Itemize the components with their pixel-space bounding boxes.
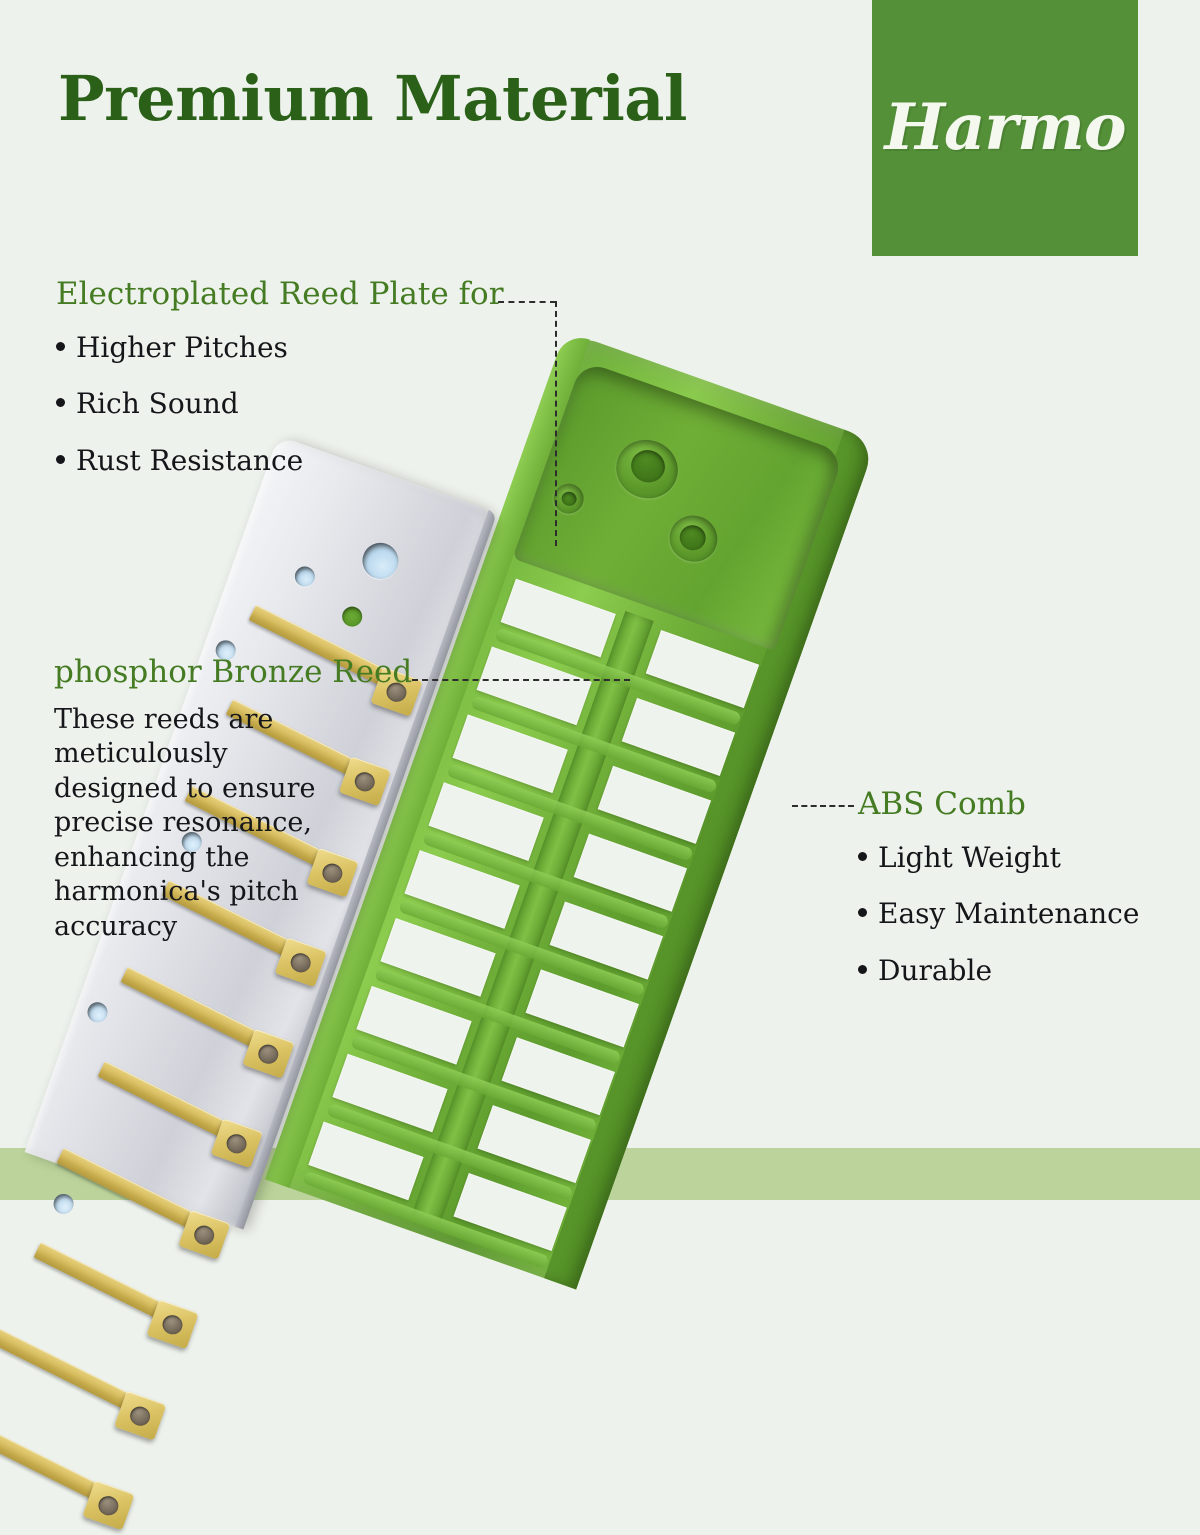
- boss-dimple: [676, 522, 709, 554]
- callout-bronze-reed-heading: phosphor Bronze Reed: [54, 655, 412, 691]
- comb-slot: [428, 782, 543, 861]
- comb-slot: [453, 714, 568, 793]
- callout-bronze-reed-body: These reeds are meticulously designed to…: [54, 703, 324, 945]
- bullet-dot-icon: [56, 455, 65, 464]
- reed-rivet-pad: [178, 1210, 230, 1260]
- bullet-dot-icon: [56, 342, 65, 351]
- comb-slot: [332, 1054, 447, 1133]
- comb-slot-group: [565, 331, 876, 441]
- boss-dimple: [560, 490, 579, 508]
- leader-line-bronze-reed: [412, 679, 630, 681]
- list-item: Durable: [858, 956, 1139, 987]
- comb-tie-bar: [398, 899, 646, 997]
- bullet-dot-icon: [858, 852, 867, 861]
- comb-slot: [477, 646, 592, 725]
- list-item-label: Easy Maintenance: [878, 899, 1139, 930]
- brand-logo-text: Harmo: [884, 96, 1125, 160]
- bronze-reed: [0, 1423, 102, 1501]
- comb-slot: [574, 834, 687, 912]
- comb-slot: [356, 986, 471, 1065]
- comb-tie-bar: [422, 831, 670, 929]
- reed-rivet-pad: [275, 937, 327, 987]
- bottom-accent-band: [0, 1148, 1200, 1200]
- reed-rivet-pad: [82, 1480, 134, 1530]
- plate-through-hole: [339, 604, 365, 630]
- comb-tie-bar: [470, 695, 718, 793]
- plate-vent-hole: [85, 1000, 111, 1026]
- screw-boss: [663, 509, 724, 568]
- plate-screw-hole: [357, 538, 403, 584]
- comb-center-rail: [412, 611, 654, 1224]
- bronze-reed: [98, 1061, 231, 1139]
- bullet-dot-icon: [858, 965, 867, 974]
- list-item: Rich Sound: [56, 389, 504, 420]
- callout-bronze-reed: phosphor Bronze Reed These reeds are met…: [54, 655, 412, 944]
- comb-slot: [622, 698, 735, 776]
- callout-abs-comb: ABS Comb Light Weight Easy Maintenance D…: [858, 787, 1139, 1013]
- list-item: Easy Maintenance: [858, 899, 1139, 930]
- callout-abs-comb-bullets: Light Weight Easy Maintenance Durable: [858, 843, 1139, 987]
- bullet-dot-icon: [858, 908, 867, 917]
- screw-boss: [608, 431, 686, 506]
- reed-rivet-pad: [114, 1391, 166, 1441]
- comb-cavity: [513, 360, 845, 651]
- comb-slot: [646, 630, 759, 708]
- leader-line-reed-plate-vertical: [555, 301, 557, 546]
- comb-slot: [404, 850, 519, 929]
- comb-tie-bar: [494, 628, 742, 726]
- comb-tie-bar: [374, 967, 622, 1065]
- comb-slot: [502, 1037, 615, 1115]
- reed-rivet-pad: [242, 1029, 294, 1079]
- comb-tie-bar: [446, 763, 694, 861]
- comb-slot: [501, 579, 616, 658]
- list-item-label: Rust Resistance: [76, 446, 303, 477]
- comb-slot: [550, 901, 663, 979]
- list-item-label: Rich Sound: [76, 389, 239, 420]
- list-item-label: Higher Pitches: [76, 333, 288, 364]
- comb-slot: [598, 766, 711, 844]
- page-title: Premium Material: [58, 66, 687, 131]
- brand-logo: Harmo: [872, 0, 1138, 256]
- comb-tie-bar: [350, 1035, 598, 1133]
- leader-line-reed-plate-horizontal: [498, 301, 556, 303]
- boss-dimple: [627, 445, 670, 487]
- callout-abs-comb-heading: ABS Comb: [858, 787, 1139, 823]
- bullet-dot-icon: [56, 398, 65, 407]
- callout-reed-plate: Electroplated Reed Plate for Higher Pitc…: [56, 277, 504, 503]
- list-item-label: Light Weight: [878, 843, 1061, 874]
- bronze-reed: [33, 1242, 166, 1320]
- plate-vent-hole: [292, 564, 318, 590]
- list-item: Rust Resistance: [56, 446, 504, 477]
- callout-reed-plate-heading: Electroplated Reed Plate for: [56, 277, 504, 313]
- bronze-reed: [0, 1329, 134, 1411]
- comb-slot: [526, 969, 639, 1047]
- list-item: Higher Pitches: [56, 333, 504, 364]
- reed-rivet-pad: [147, 1299, 199, 1349]
- list-item-label: Durable: [878, 956, 992, 987]
- leader-line-abs-comb: [792, 805, 854, 807]
- list-item: Light Weight: [858, 843, 1139, 874]
- callout-reed-plate-bullets: Higher Pitches Rich Sound Rust Resistanc…: [56, 333, 504, 477]
- bronze-reed: [120, 967, 262, 1049]
